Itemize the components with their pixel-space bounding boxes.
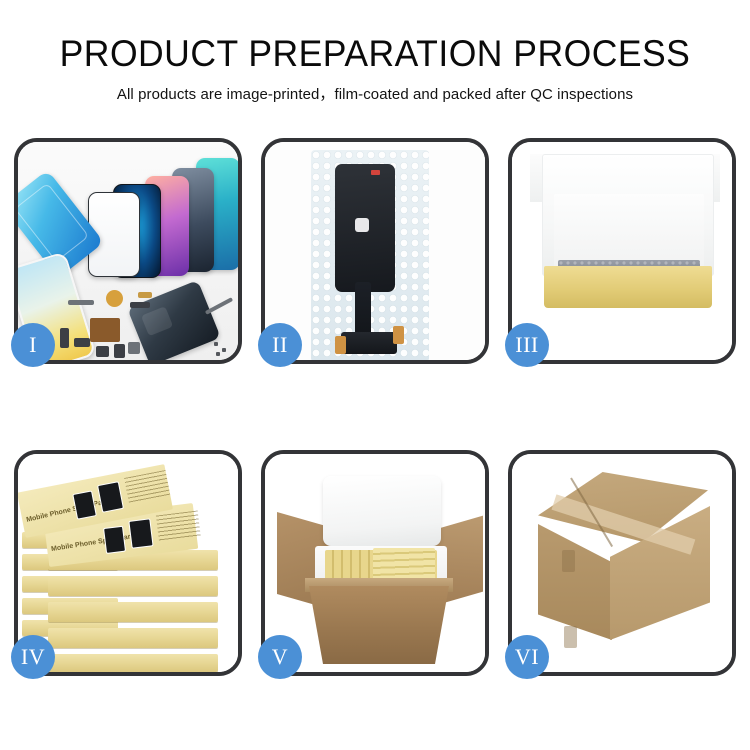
step-image-4: Mobile Phone Spare Parts Mobile Phone Sp… — [18, 454, 238, 672]
step-badge-6: VI — [505, 635, 549, 679]
button-flex-part-icon — [130, 302, 150, 308]
box-label-text: Mobile Phone Spare Parts — [26, 498, 112, 524]
scene-carton-loading — [265, 454, 485, 672]
box-spec-lines — [156, 510, 201, 541]
screw-part-icon — [216, 352, 220, 356]
step-badge-2: II — [258, 323, 302, 367]
step-image-3 — [512, 142, 732, 360]
step-panel-2[interactable]: II — [261, 138, 489, 364]
step-badge-5: V — [258, 635, 302, 679]
screw-part-icon — [214, 342, 218, 346]
yellow-box-tray-icon — [544, 266, 712, 308]
stacked-box — [48, 576, 218, 596]
box-spec-lines — [124, 470, 170, 504]
carton-handle-notch-icon — [564, 626, 577, 648]
box-artwork-screen-icon — [72, 490, 97, 519]
stacked-box — [48, 654, 218, 672]
step-panel-5[interactable]: V — [261, 450, 489, 676]
step-badge-4: IV — [11, 635, 55, 679]
scene-inner-box — [512, 142, 732, 360]
coil-part-icon — [106, 290, 123, 307]
step-image-1 — [18, 142, 238, 360]
product-preparation-infographic: PRODUCT PREPARATION PROCESS All products… — [0, 0, 750, 750]
display-connector-icon — [341, 332, 397, 354]
step-image-2 — [265, 142, 485, 360]
carton-body-icon — [309, 586, 449, 664]
qc-sticker-icon — [371, 170, 380, 175]
step-panel-4[interactable]: Mobile Phone Spare Parts Mobile Phone Sp… — [14, 450, 242, 676]
step-image-5 — [265, 454, 485, 672]
page-title: PRODUCT PREPARATION PROCESS — [15, 34, 735, 74]
step-panel-6[interactable]: VI — [508, 450, 736, 676]
scene-stacked-retail-boxes: Mobile Phone Spare Parts Mobile Phone Sp… — [18, 454, 238, 672]
step-image-6 — [512, 454, 732, 672]
logic-board-part-icon — [90, 318, 120, 342]
step-badge-3: III — [505, 323, 549, 367]
gold-flex-tab-icon — [393, 326, 404, 344]
carton-front-face-icon — [538, 524, 612, 640]
stacked-box — [48, 628, 218, 648]
flex-cable-part-icon — [68, 300, 94, 305]
scene-bubble-wrapped-screen — [265, 142, 485, 360]
sensor-part-icon — [128, 342, 140, 354]
scene-sealed-carton — [512, 454, 732, 672]
bubble-wrap-bag-icon — [311, 150, 429, 360]
speaker-part-icon — [60, 328, 69, 348]
styrofoam-lid-icon — [323, 476, 441, 546]
tweezers-tool-icon — [205, 297, 233, 315]
step-panel-1[interactable]: I — [14, 138, 242, 364]
screw-part-icon — [222, 348, 226, 352]
vibrator-part-icon — [96, 346, 109, 357]
connector-pad-icon — [355, 218, 369, 232]
gold-contact-part-icon — [138, 292, 152, 298]
page-subtitle: All products are image-printed，film-coat… — [6, 82, 745, 104]
box-artwork-screen-icon — [97, 481, 124, 513]
stacked-box — [48, 602, 218, 622]
sim-tray-part-icon — [114, 344, 125, 358]
carton-handle-notch-icon — [562, 550, 575, 572]
box-artwork-screen-icon — [128, 518, 153, 548]
step-badge-1: I — [11, 323, 55, 367]
scene-assorted-parts — [18, 142, 238, 360]
box-artwork-screen-icon — [103, 526, 126, 554]
step-panel-3[interactable]: III — [508, 138, 736, 364]
process-step-grid: I II — [14, 138, 736, 676]
header: PRODUCT PREPARATION PROCESS All products… — [0, 34, 750, 104]
gold-flex-tab-icon — [335, 336, 346, 354]
camera-part-icon — [74, 338, 90, 347]
